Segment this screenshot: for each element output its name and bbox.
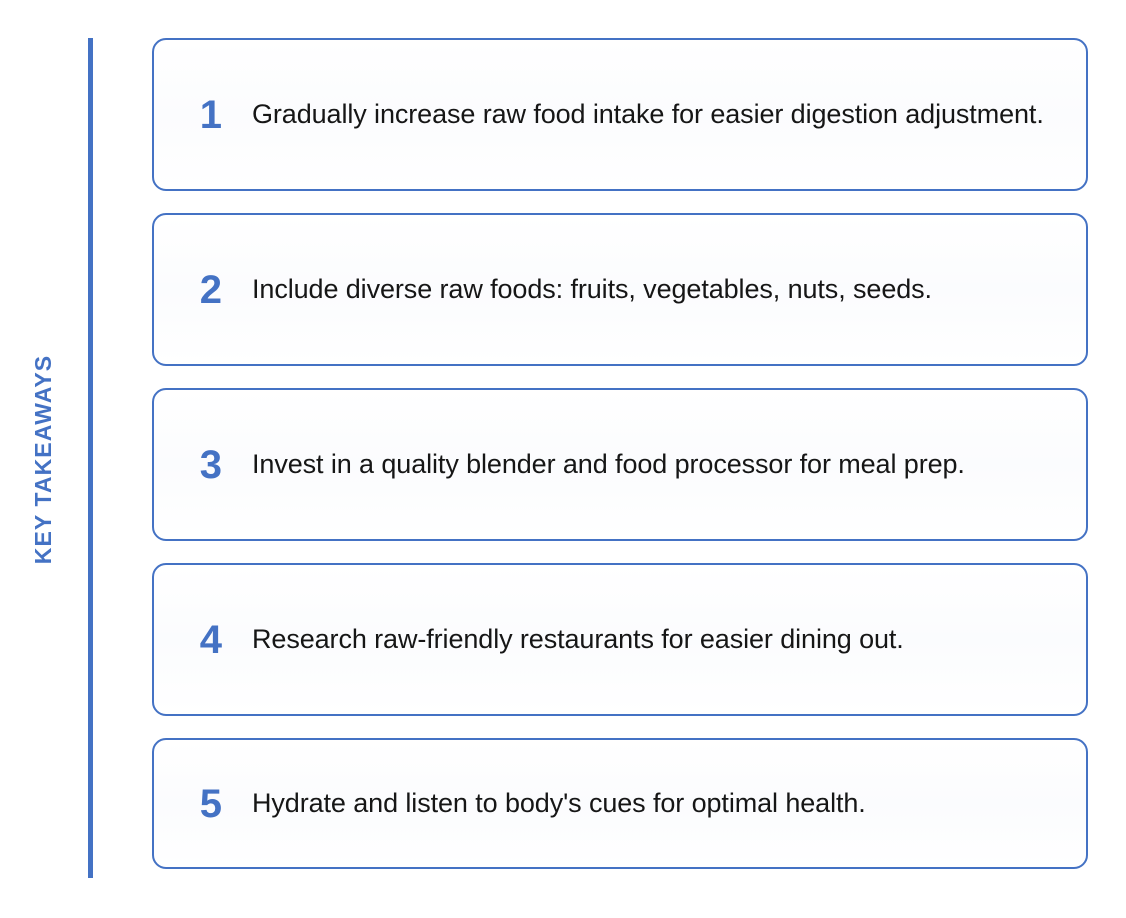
takeaway-number-2: 2	[180, 270, 222, 310]
takeaway-card-2: 2 Include diverse raw foods: fruits, veg…	[152, 213, 1088, 366]
section-label: KEY TAKEAWAYS	[0, 0, 88, 918]
takeaway-card-3: 3 Invest in a quality blender and food p…	[152, 388, 1088, 541]
takeaway-number-4: 4	[180, 620, 222, 660]
takeaways-list: 1 Gradually increase raw food intake for…	[152, 38, 1088, 878]
takeaway-text-1: Gradually increase raw food intake for e…	[252, 97, 1064, 133]
takeaway-text-5: Hydrate and listen to body's cues for op…	[252, 786, 1064, 822]
takeaway-card-5: 5 Hydrate and listen to body's cues for …	[152, 738, 1088, 869]
section-label-text: KEY TAKEAWAYS	[33, 354, 56, 563]
takeaway-text-3: Invest in a quality blender and food pro…	[252, 447, 1064, 483]
takeaway-card-4: 4 Research raw-friendly restaurants for …	[152, 563, 1088, 716]
takeaway-card-1: 1 Gradually increase raw food intake for…	[152, 38, 1088, 191]
takeaway-text-2: Include diverse raw foods: fruits, veget…	[252, 272, 1064, 308]
takeaway-text-4: Research raw-friendly restaurants for ea…	[252, 622, 1064, 658]
key-takeaways-page: KEY TAKEAWAYS 1 Gradually increase raw f…	[0, 0, 1126, 918]
left-accent-bar	[88, 38, 93, 878]
takeaway-number-5: 5	[180, 784, 222, 824]
takeaway-number-3: 3	[180, 445, 222, 485]
takeaway-number-1: 1	[180, 95, 222, 135]
